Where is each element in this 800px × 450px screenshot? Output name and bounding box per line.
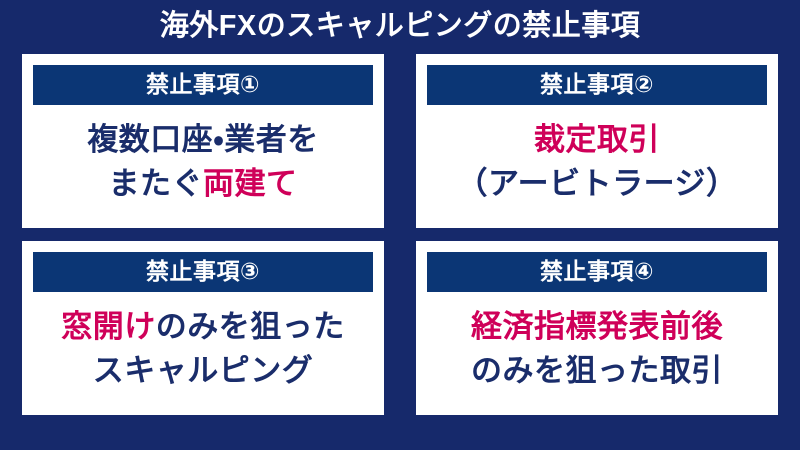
prohibition-card-4: 禁止事項④ 経済指標発表前後 のみを狙った取引	[416, 241, 778, 415]
card-text-1-1-0: 複数口座・業者を	[87, 122, 319, 157]
card-body-1: 複数口座・業者を またぐ両建て	[33, 105, 373, 218]
card-line-1-1: 複数口座・業者を	[87, 119, 319, 160]
card-line-1-2: またぐ両建て	[109, 163, 298, 204]
card-text-2-1-0: 裁定取引	[534, 122, 660, 157]
card-text-2-2-0: （アービトラージ）	[456, 166, 737, 201]
card-line-2-1: 裁定取引	[534, 119, 660, 160]
card-header-4: 禁止事項④	[427, 252, 767, 292]
prohibited-items-grid: 禁止事項① 複数口座・業者を またぐ両建て 禁止事項② 裁定取引 （アービトラー…	[22, 54, 778, 415]
prohibition-card-1: 禁止事項① 複数口座・業者を またぐ両建て	[22, 54, 384, 228]
card-text-4-2-0: のみを狙った取引	[471, 353, 723, 388]
card-body-2: 裁定取引 （アービトラージ）	[427, 105, 767, 218]
page-title: 海外FXのスキャルピングの禁止事項	[160, 12, 641, 41]
infographic-root: 海外FXのスキャルピングの禁止事項 禁止事項① 複数口座・業者を またぐ両建て …	[0, 0, 800, 450]
card-text-4-1-0: 経済指標発表前後	[471, 309, 723, 344]
card-line-3-2: スキャルピング	[93, 350, 314, 391]
card-body-3: 窓開けのみを狙った スキャルピング	[33, 292, 373, 405]
card-line-3-1: 窓開けのみを狙った	[61, 306, 345, 347]
card-text-3-1-1: のみを狙った	[156, 309, 345, 344]
card-line-4-1: 経済指標発表前後	[471, 306, 723, 347]
card-text-1-2-0: またぐ	[109, 166, 204, 201]
card-header-1: 禁止事項①	[33, 65, 373, 105]
card-line-4-2: のみを狙った取引	[471, 350, 723, 391]
card-header-3: 禁止事項③	[33, 252, 373, 292]
card-text-3-1-0: 窓開け	[61, 309, 156, 344]
card-body-4: 経済指標発表前後 のみを狙った取引	[427, 292, 767, 405]
prohibition-card-2: 禁止事項② 裁定取引 （アービトラージ）	[416, 54, 778, 228]
card-text-1-2-1: 両建て	[203, 166, 298, 201]
card-line-2-2: （アービトラージ）	[456, 163, 737, 204]
card-header-2: 禁止事項②	[427, 65, 767, 105]
prohibition-card-3: 禁止事項③ 窓開けのみを狙った スキャルピング	[22, 241, 384, 415]
card-text-3-2-0: スキャルピング	[93, 353, 314, 388]
